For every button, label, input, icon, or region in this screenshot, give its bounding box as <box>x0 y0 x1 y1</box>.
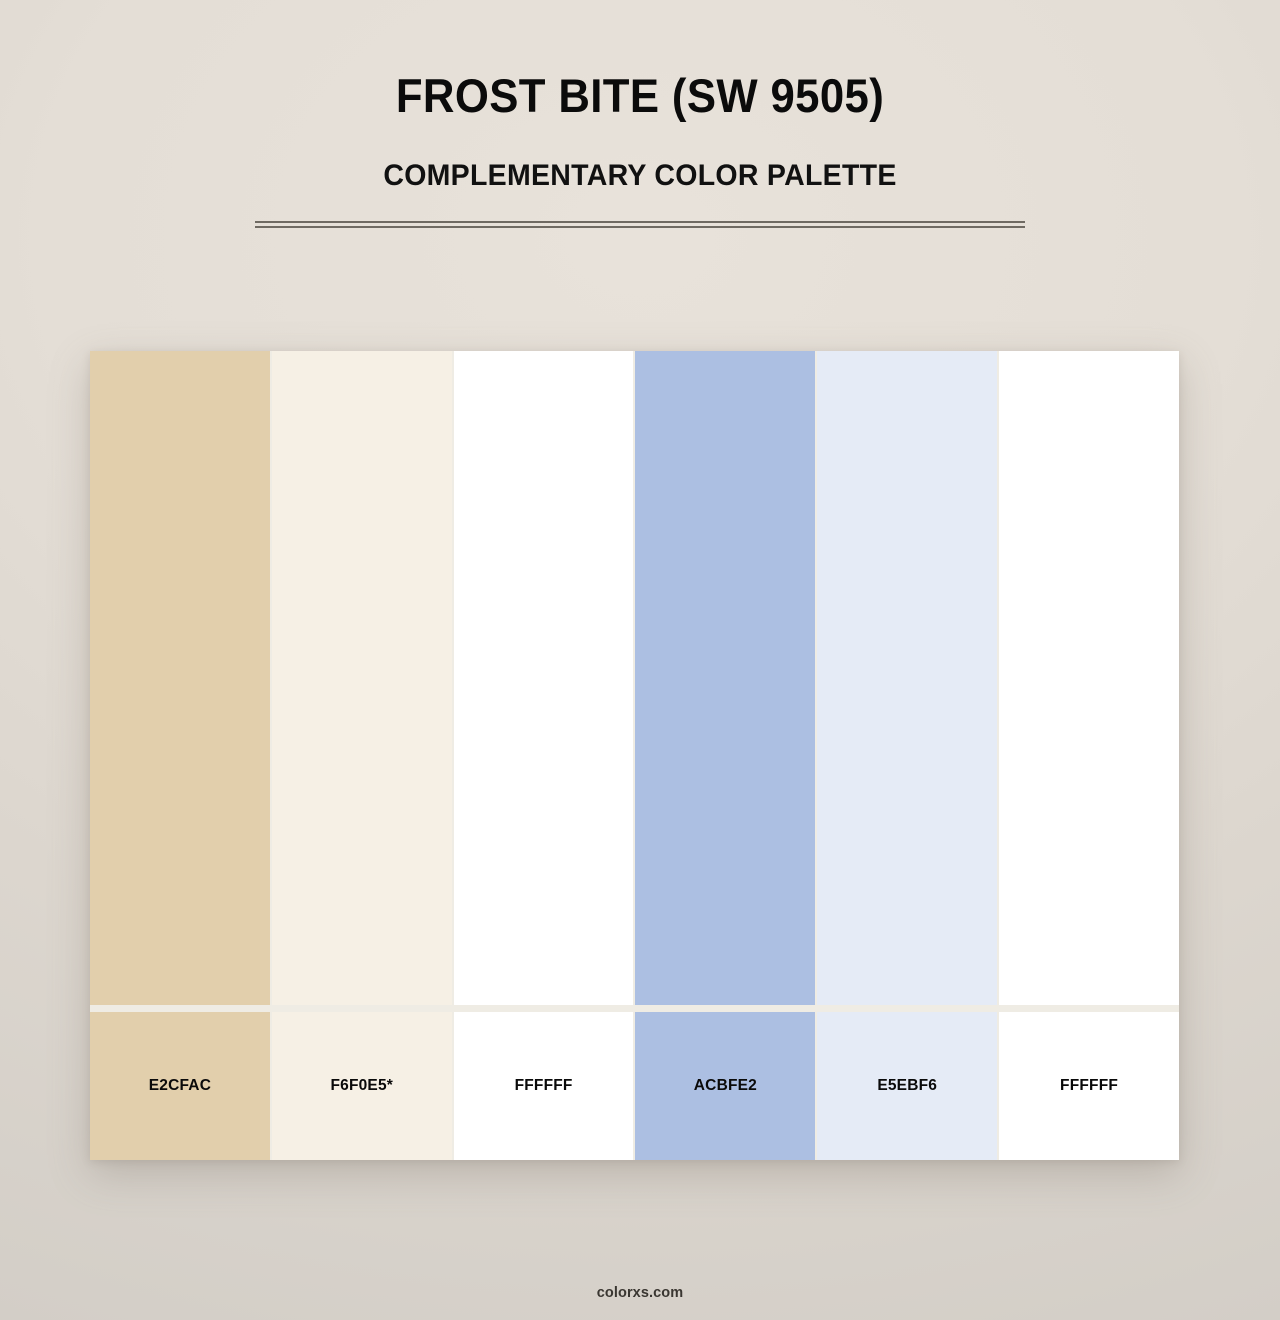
palette-column[interactable]: ACBFE2 <box>635 351 815 1160</box>
swatch-separator <box>635 1005 815 1012</box>
color-swatch[interactable] <box>272 351 452 1005</box>
swatch-separator <box>999 1005 1179 1012</box>
color-hex-label: ACBFE2 <box>694 1077 757 1095</box>
color-label-cell[interactable]: ACBFE2 <box>635 1012 815 1160</box>
color-hex-label: E5EBF6 <box>877 1077 937 1095</box>
divider-line-bottom <box>255 226 1025 228</box>
palette-column[interactable]: F6F0E5* <box>272 351 452 1160</box>
palette-column[interactable]: E5EBF6 <box>817 351 997 1160</box>
color-palette: E2CFACF6F0E5*FFFFFFACBFE2E5EBF6FFFFFF <box>90 351 1179 1160</box>
color-hex-label: FFFFFF <box>1060 1077 1118 1095</box>
site-credit: colorxs.com <box>597 1285 684 1301</box>
color-swatch[interactable] <box>817 351 997 1005</box>
page-title: FROST BITE (SW 9505) <box>45 72 1235 119</box>
page-subtitle: COMPLEMENTARY COLOR PALETTE <box>32 161 1248 191</box>
color-label-cell[interactable]: F6F0E5* <box>272 1012 452 1160</box>
color-hex-label: F6F0E5* <box>330 1077 393 1095</box>
color-label-cell[interactable]: FFFFFF <box>999 1012 1179 1160</box>
color-label-cell[interactable]: FFFFFF <box>454 1012 634 1160</box>
swatch-separator <box>90 1005 270 1012</box>
page-footer: colorxs.com <box>0 1284 1280 1302</box>
swatch-separator <box>272 1005 452 1012</box>
color-swatch[interactable] <box>635 351 815 1005</box>
palette-column[interactable]: E2CFAC <box>90 351 270 1160</box>
color-hex-label: E2CFAC <box>149 1077 211 1095</box>
header-divider <box>255 221 1025 228</box>
swatch-separator <box>817 1005 997 1012</box>
palette-column[interactable]: FFFFFF <box>999 351 1179 1160</box>
swatch-separator <box>454 1005 634 1012</box>
color-label-cell[interactable]: E2CFAC <box>90 1012 270 1160</box>
color-label-cell[interactable]: E5EBF6 <box>817 1012 997 1160</box>
color-swatch[interactable] <box>90 351 270 1005</box>
page-header: FROST BITE (SW 9505) COMPLEMENTARY COLOR… <box>0 0 1280 228</box>
palette-column[interactable]: FFFFFF <box>454 351 634 1160</box>
color-swatch[interactable] <box>999 351 1179 1005</box>
color-hex-label: FFFFFF <box>515 1077 573 1095</box>
color-swatch[interactable] <box>454 351 634 1005</box>
